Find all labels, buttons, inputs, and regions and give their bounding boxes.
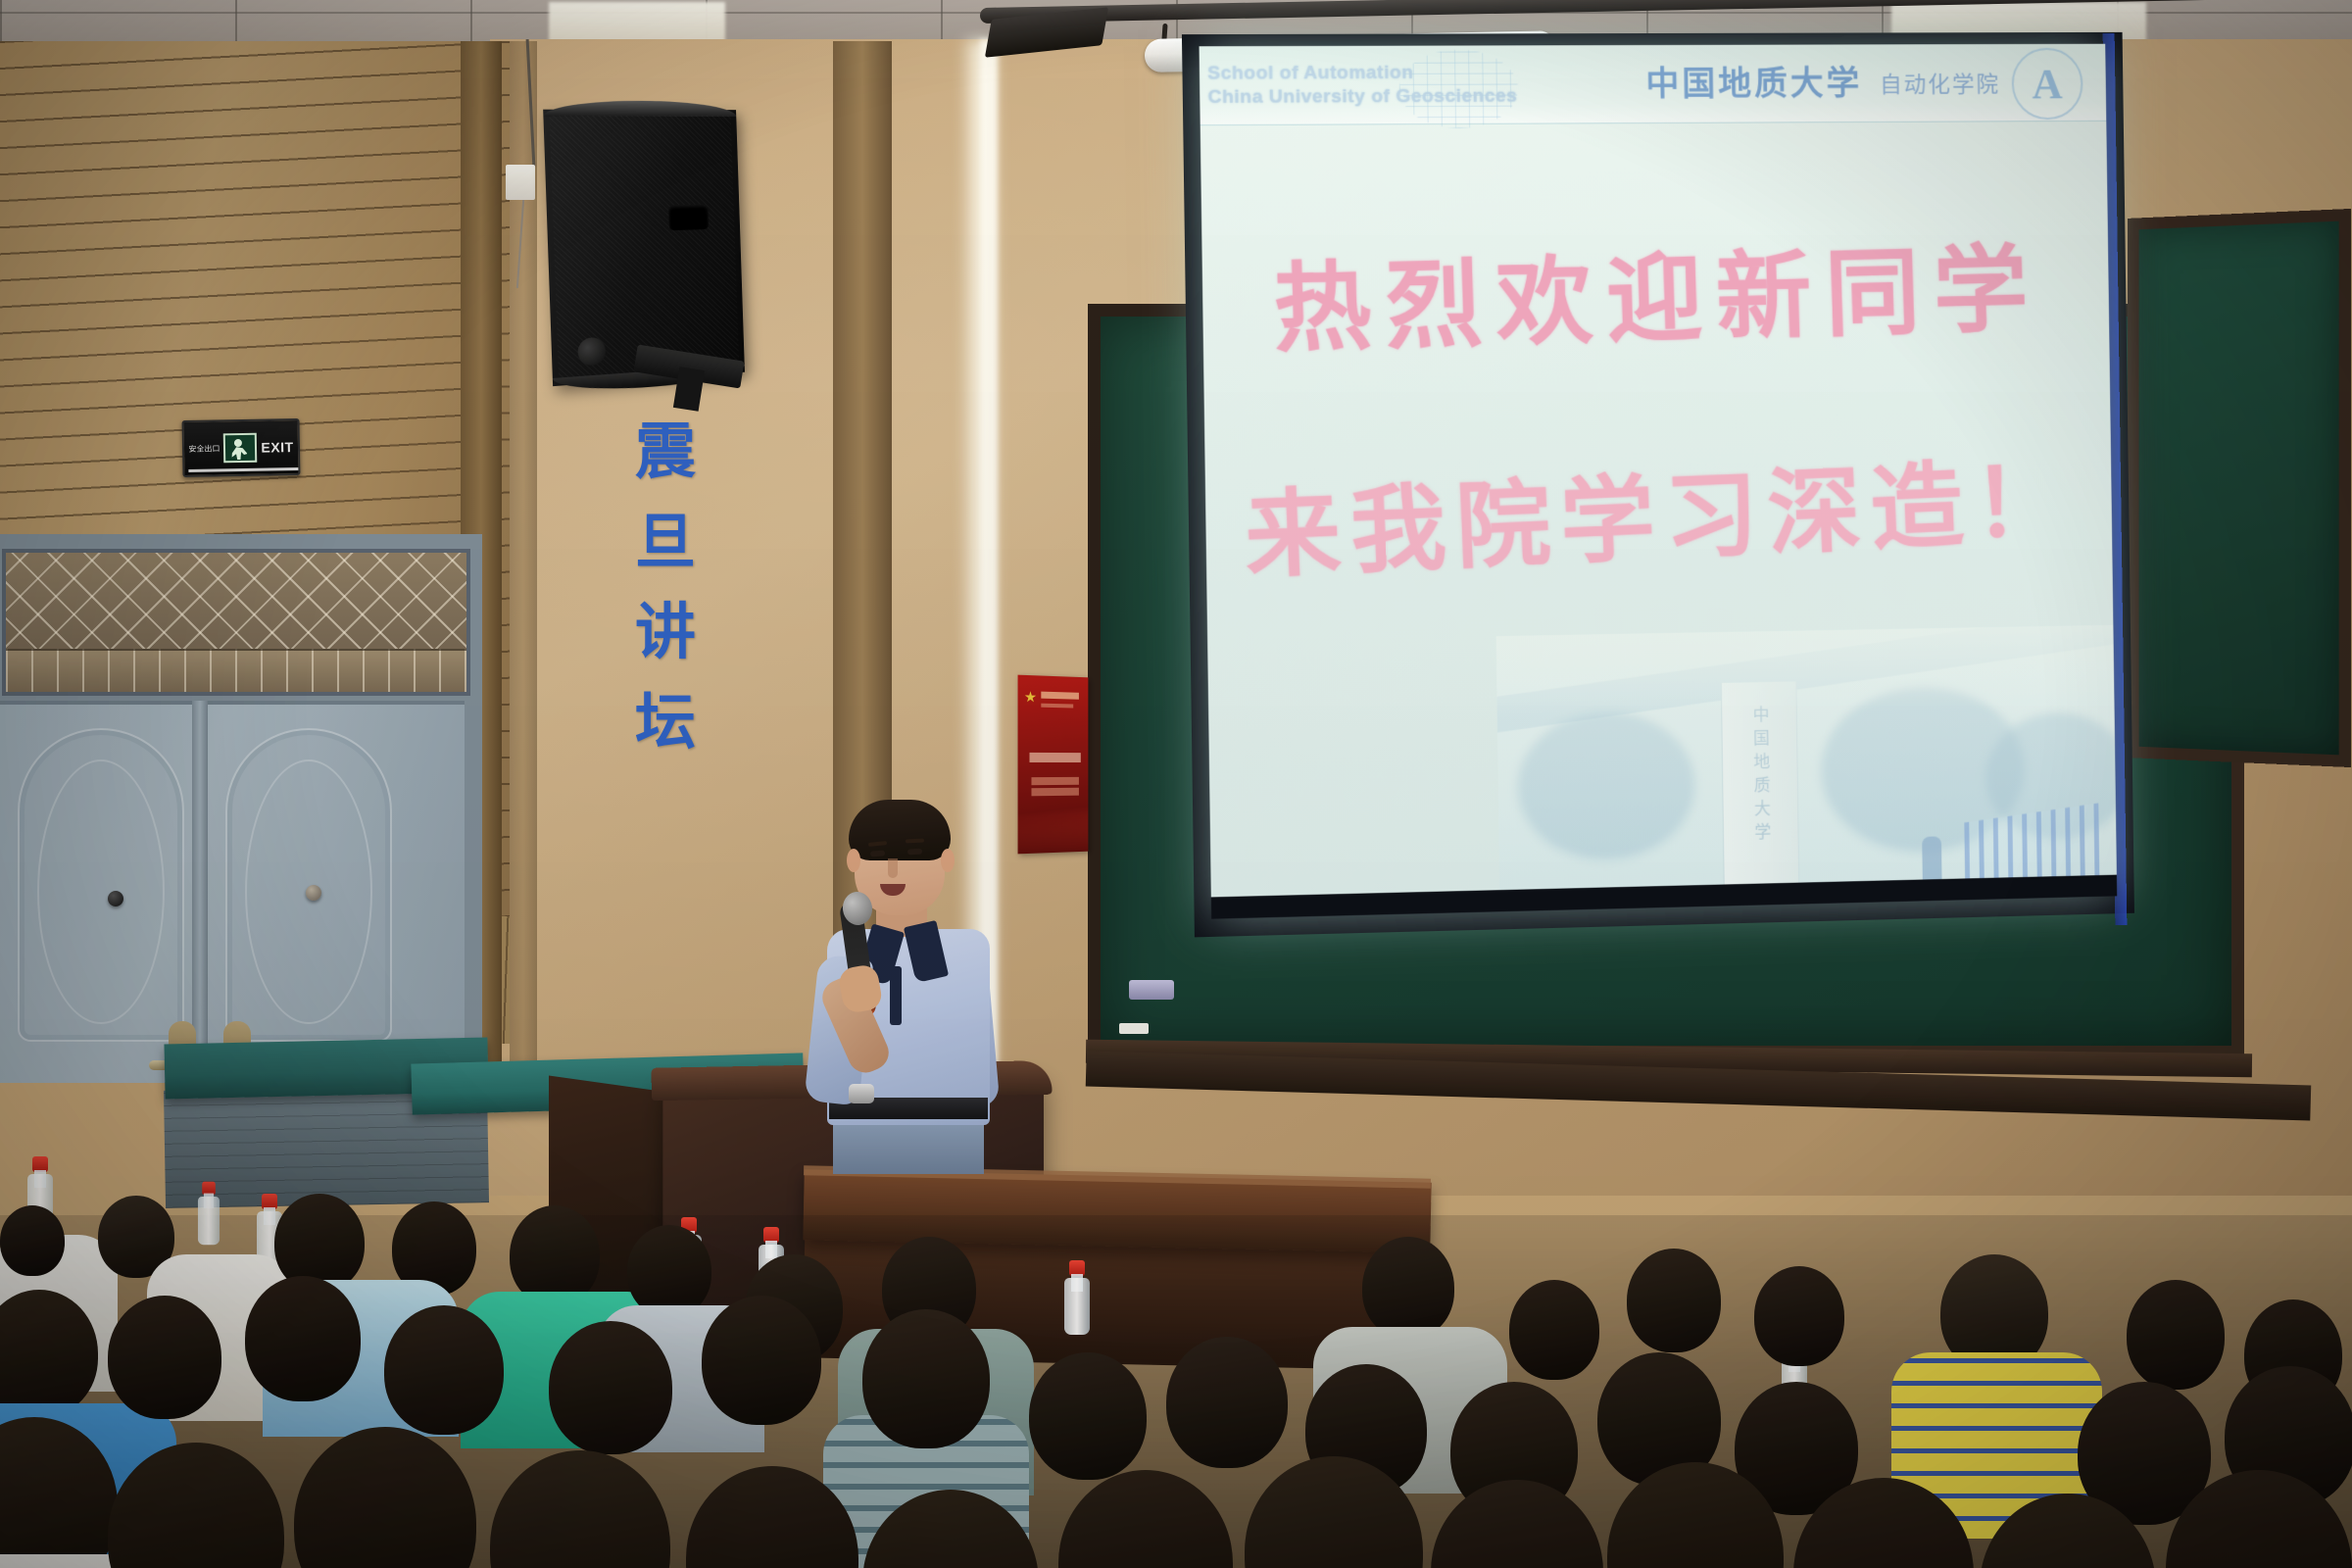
poster-subline-bar	[1041, 704, 1073, 709]
chalk-piece	[1119, 1023, 1149, 1034]
door-panel-oval	[37, 759, 165, 1024]
bottle-body	[1064, 1278, 1090, 1335]
emergency-exit-sign: 安全出口 EXIT	[182, 418, 301, 477]
transom-lower-grille	[6, 649, 466, 692]
audience-head	[549, 1321, 672, 1454]
photo-fade-overlay	[1496, 625, 2118, 914]
calligraphy-char-4: 坛	[635, 692, 696, 753]
presenter-ear-right	[941, 849, 955, 872]
audience-head	[108, 1296, 221, 1419]
slide-header-english-line2: China University of Geosciences	[1207, 84, 1517, 109]
chalkboard-right-panel	[2128, 209, 2351, 767]
presenter-hair	[849, 800, 951, 860]
slide-header-chinese: 中国地质大学	[1645, 56, 1862, 105]
calligraphy-char-2: 旦	[635, 512, 696, 572]
slide-header-chinese-sub: 自动化学院	[1880, 66, 2001, 99]
slide-title-line1: 热烈欢迎新同学	[1200, 211, 2111, 374]
exit-sign-chinese-label: 安全出口	[188, 443, 220, 455]
audience-head	[245, 1276, 361, 1401]
presenter-eye-left	[870, 850, 885, 857]
slide-campus-photo: 中国地质大学	[1496, 625, 2118, 914]
audience-head	[862, 1309, 990, 1448]
audience-head	[2127, 1280, 2225, 1390]
poster-bottom-image	[1018, 814, 1089, 854]
running-man-icon	[223, 433, 258, 464]
poster-title-block	[1029, 753, 1080, 762]
exit-sign-english-label: EXIT	[261, 439, 293, 456]
loudspeaker-bass-port	[668, 204, 709, 230]
audience-head	[702, 1296, 821, 1425]
loudspeaker-grille	[550, 116, 740, 380]
audience-head	[0, 1205, 65, 1276]
presenter-shirt-placket	[890, 966, 902, 1025]
slide-title-line2: 来我院学习深造！	[1203, 423, 2114, 598]
slide-header-english-line1: School of Automation	[1207, 61, 1517, 85]
audience-seating-area	[0, 1058, 2352, 1568]
door-leaf-left[interactable]	[0, 714, 202, 1077]
red-propaganda-poster	[1018, 675, 1089, 855]
blackboard-eraser	[1129, 980, 1174, 1000]
presenter-nose	[888, 858, 898, 878]
transom-window	[2, 549, 470, 696]
poster-text-block	[1031, 774, 1078, 796]
wall-calligraphy-zhendan-forum: 震 旦 讲 坛	[635, 421, 696, 753]
exit-sign-base-strip	[188, 467, 298, 472]
poster-star-emblem-icon	[1025, 691, 1037, 703]
audience-head	[1754, 1266, 1844, 1366]
audience-head	[510, 1205, 600, 1305]
slide-header-english: School of Automation China University of…	[1207, 61, 1517, 109]
water-bottle	[1064, 1260, 1090, 1335]
projected-slide: School of Automation China University of…	[1200, 44, 2118, 919]
audience-head	[1627, 1249, 1721, 1352]
door-knob[interactable]	[306, 885, 321, 901]
university-logo-icon: A	[2011, 48, 2082, 121]
poster-headline-bar	[1041, 692, 1079, 700]
door-knob[interactable]	[108, 891, 123, 906]
presenter-ear-left	[847, 849, 860, 872]
audience-head	[1362, 1237, 1454, 1339]
audience-head	[384, 1305, 504, 1435]
calligraphy-char-3: 讲	[635, 602, 696, 662]
audience-head	[1166, 1337, 1288, 1468]
audience-head	[1509, 1280, 1599, 1380]
slide-header-band: School of Automation China University of…	[1200, 44, 2107, 125]
calligraphy-char-1: 震	[635, 421, 696, 482]
lecture-hall-photo: Lia School of Automation China Universit…	[0, 0, 2352, 1568]
door-center-mullion	[192, 701, 208, 1083]
audience-head	[627, 1225, 711, 1317]
bottle-body	[198, 1197, 220, 1245]
presenter-eye-right	[907, 849, 922, 856]
audience-head	[1029, 1352, 1147, 1480]
water-bottle	[198, 1182, 220, 1246]
electrical-junction-box	[506, 165, 535, 200]
